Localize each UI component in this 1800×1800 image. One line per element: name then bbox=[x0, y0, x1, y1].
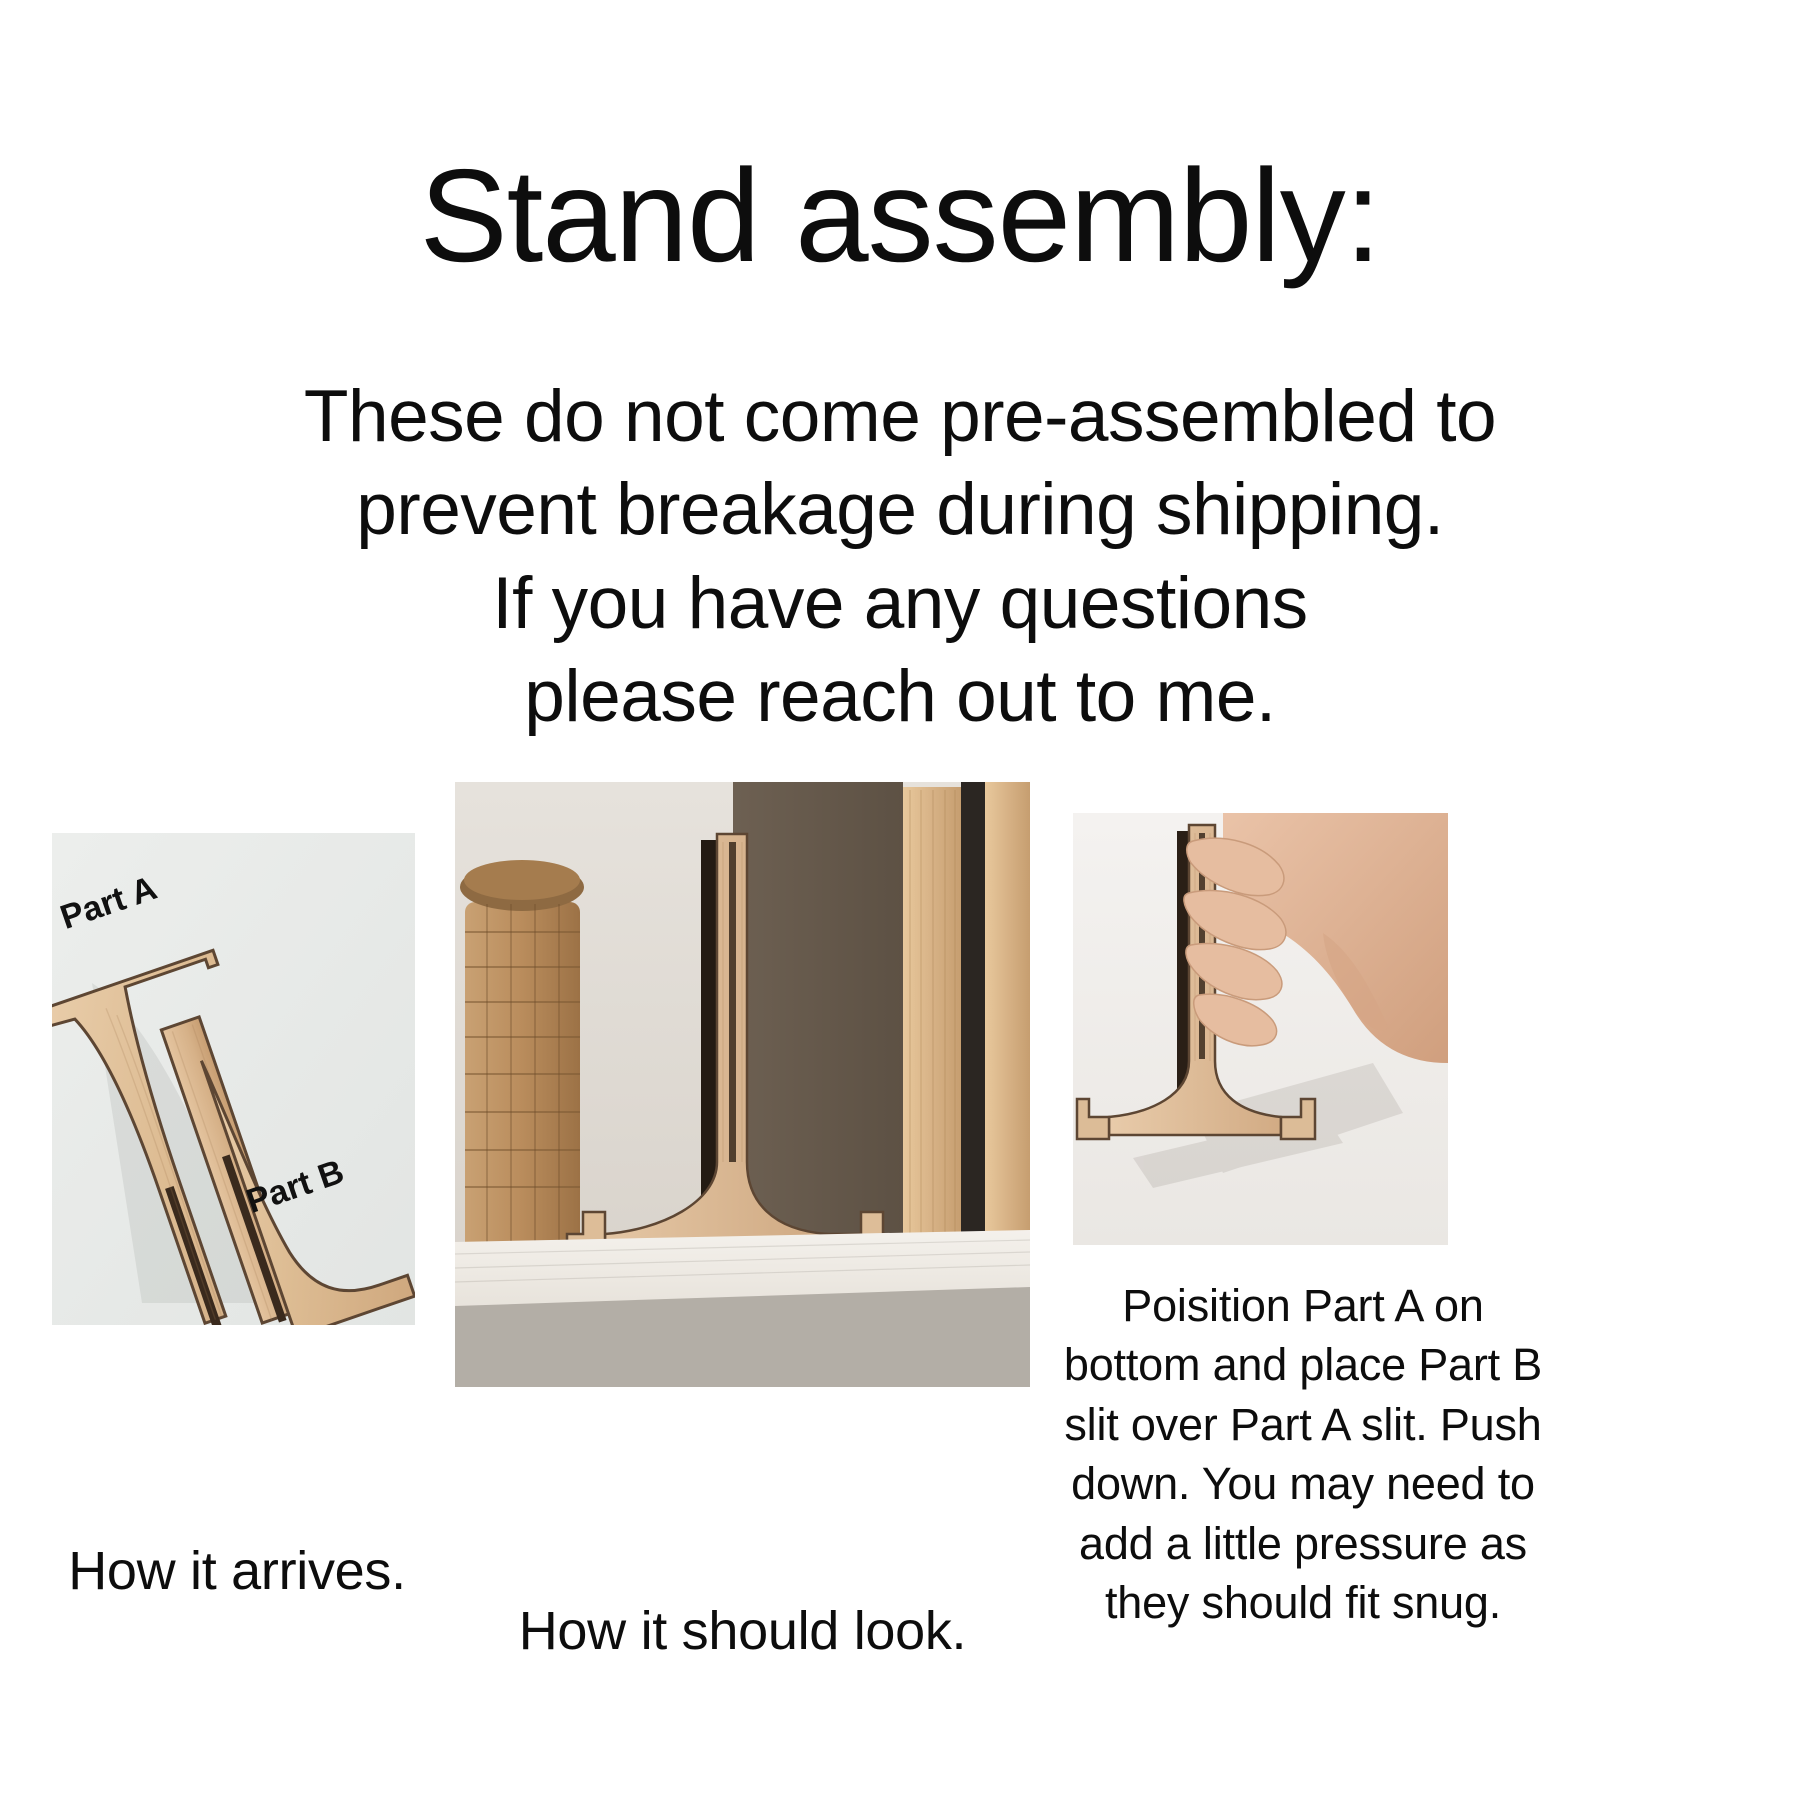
page-title: Stand assembly: bbox=[0, 150, 1800, 282]
intro-line-2: prevent breakage during shipping. bbox=[150, 463, 1650, 556]
photo-how-it-should-look bbox=[455, 782, 1030, 1387]
intro-line-1: These do not come pre-assembled to bbox=[150, 370, 1650, 463]
intro-line-3: If you have any questions bbox=[150, 557, 1650, 650]
assembly-instructions-page: Stand assembly: These do not come pre-as… bbox=[0, 0, 1800, 1800]
intro-line-4: please reach out to me. bbox=[150, 650, 1650, 743]
intro-paragraph: These do not come pre-assembled to preve… bbox=[150, 370, 1650, 744]
caption-assembly-instructions: Poisition Part A on bottom and place Par… bbox=[1063, 1276, 1543, 1632]
photo-hand-holding-stand bbox=[1073, 813, 1448, 1245]
caption-how-it-arrives: How it arrives. bbox=[52, 1540, 422, 1602]
caption-how-it-should-look: How it should look. bbox=[455, 1600, 1030, 1662]
